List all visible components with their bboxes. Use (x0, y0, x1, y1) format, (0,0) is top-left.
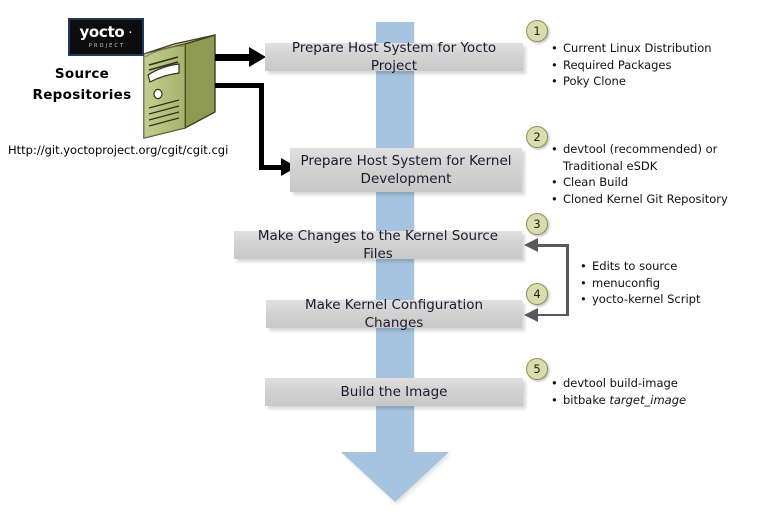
list-item: Cloned Kernel Git Repository (551, 191, 728, 208)
step-badge-1-number: 1 (533, 24, 540, 38)
logo-wordmark: yocto (79, 25, 124, 40)
list-item: bitbake target_image (551, 392, 686, 409)
list-item: Edits to source (580, 258, 701, 275)
bullet-list-step-5: devtool build-image bitbake target_image (551, 375, 686, 408)
process-box-step-2-label-line1: Prepare Host System for Kernel (300, 152, 511, 170)
step-badge-5: 5 (526, 358, 548, 380)
bullet-list-steps-3-4: Edits to source menuconfig yocto-kernel … (580, 258, 701, 308)
connector-server-to-step1-arrowhead (249, 47, 266, 67)
process-box-step-4-label: Make Kernel Configuration Changes (274, 296, 514, 332)
bracket-arrowhead-step-3 (524, 238, 538, 252)
list-item: Clean Build (551, 174, 728, 191)
process-box-step-5-label: Build the Image (341, 383, 448, 401)
bullet-list-step-2: devtool (recommended) or Traditional eSD… (551, 141, 728, 207)
step-badge-2: 2 (526, 126, 548, 148)
bracket-vertical-steps-3-4 (566, 244, 569, 316)
list-item-variable: target_image (609, 393, 686, 407)
step-badge-1: 1 (526, 20, 548, 42)
logo-subtitle: PROJECT (89, 43, 125, 49)
connector-server-to-step2-horizontal-bottom (259, 165, 281, 170)
list-item-continuation: Traditional eSDK (551, 158, 728, 175)
workflow-diagram: yocto · PROJECT (0, 0, 769, 517)
process-box-step-4[interactable]: Make Kernel Configuration Changes (266, 300, 522, 328)
process-box-step-1[interactable]: Prepare Host System for Yocto Project (265, 43, 523, 71)
process-box-step-2[interactable]: Prepare Host System for Kernel Developme… (290, 148, 522, 192)
bracket-horizontal-to-step-3 (537, 244, 568, 247)
source-label-line2: Repositories (26, 85, 138, 106)
connector-server-to-step2-vertical (259, 83, 264, 170)
bracket-arrowhead-step-4 (524, 308, 538, 322)
bullet-list-step-1: Current Linux Distribution Required Pack… (551, 40, 712, 90)
list-item: devtool (recommended) or (551, 141, 728, 158)
step-badge-3: 3 (526, 213, 548, 235)
process-box-step-5[interactable]: Build the Image (265, 378, 523, 406)
list-item: Poky Clone (551, 73, 712, 90)
connector-server-to-step2-horizontal-top (215, 83, 264, 88)
source-repository-url: Http://git.yoctoproject.org/cgit/cgit.cg… (8, 143, 228, 157)
source-label-line1: Source (26, 64, 138, 85)
list-item: menuconfig (580, 275, 701, 292)
list-item: Current Linux Distribution (551, 40, 712, 57)
list-item: yocto-kernel Script (580, 291, 701, 308)
list-item-command: bitbake (563, 393, 609, 407)
server-icon (132, 30, 218, 140)
flow-arrow-head (341, 452, 449, 502)
process-box-step-3-label: Make Changes to the Kernel Source Files (242, 227, 514, 263)
step-badge-4: 4 (526, 283, 548, 305)
list-item: Required Packages (551, 57, 712, 74)
bracket-horizontal-to-step-4 (537, 314, 568, 317)
connector-server-to-step1-line (215, 54, 249, 61)
process-box-step-3[interactable]: Make Changes to the Kernel Source Files (234, 231, 522, 259)
step-badge-4-number: 4 (533, 287, 540, 301)
process-box-step-1-label: Prepare Host System for Yocto Project (273, 39, 515, 75)
source-repositories-label: Source Repositories (26, 64, 138, 106)
step-badge-3-number: 3 (533, 217, 540, 231)
step-badge-2-number: 2 (533, 130, 540, 144)
step-badge-5-number: 5 (533, 362, 540, 376)
list-item: devtool build-image (551, 375, 686, 392)
process-box-step-2-label-line2: Development (361, 170, 452, 188)
